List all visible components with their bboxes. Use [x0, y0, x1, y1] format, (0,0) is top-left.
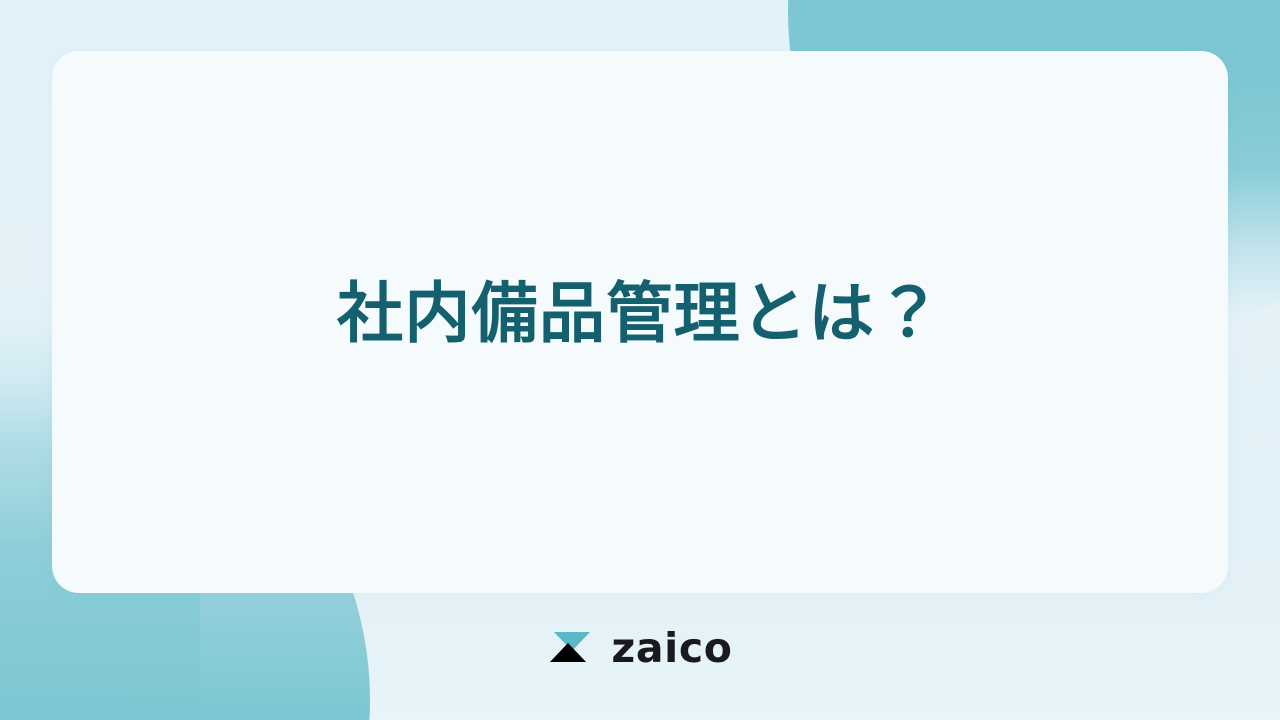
- page-title: 社内備品管理とは？: [277, 273, 1003, 356]
- zaico-mark-icon: [547, 624, 593, 670]
- presentation-slide: 社内備品管理とは？ zaico: [0, 0, 1280, 720]
- brand-logo: zaico: [0, 624, 1280, 670]
- content-card: 社内備品管理とは？: [52, 51, 1228, 593]
- brand-wordmark: zaico: [611, 628, 732, 669]
